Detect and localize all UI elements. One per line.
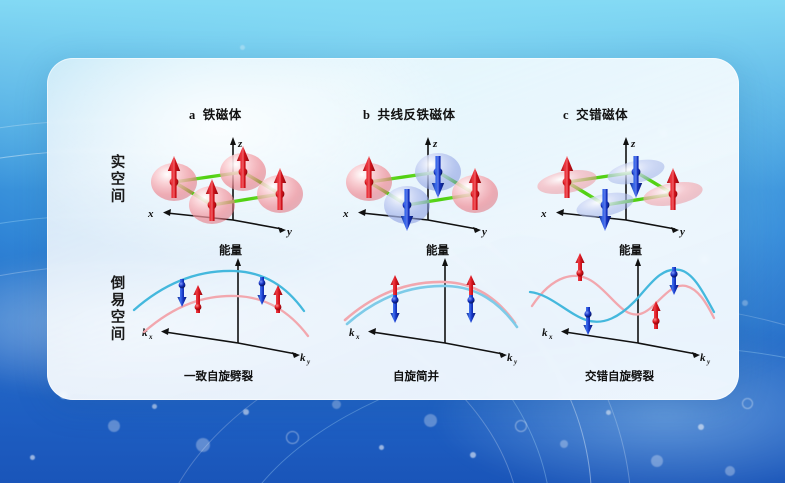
lattice-site (536, 156, 599, 198)
axis-label-kx-sub: x (148, 333, 153, 341)
panel-letter-a: a (189, 108, 196, 122)
lattice-site (346, 156, 392, 201)
axis-ky (445, 343, 503, 354)
axis-kx-arrow (368, 328, 376, 335)
bokeh-particle (725, 466, 735, 476)
axis-kx (372, 332, 445, 343)
band-curve-spin-up (345, 282, 515, 323)
axis-label-ky: k (700, 352, 706, 364)
axis-energy-arrow (442, 258, 448, 266)
bokeh-particle (30, 455, 35, 460)
bokeh-particle (560, 440, 568, 448)
axis-energy-arrow (635, 258, 641, 266)
axis-ky (638, 343, 696, 354)
axis-label-kx: k (349, 327, 355, 339)
bokeh-particle (240, 45, 245, 50)
bokeh-particle (286, 431, 299, 444)
axis-label-y: y (678, 226, 685, 238)
row-label-char: 易 (108, 293, 128, 310)
axis-label-kx-sub: x (355, 333, 360, 341)
axis-label-ky-sub: y (306, 358, 311, 366)
row-label-real-space: 实 空 间 (108, 155, 128, 206)
axis-y (626, 220, 675, 229)
axis-y-arrow (473, 227, 481, 233)
caption-a: 一致自旋劈裂 (184, 368, 253, 384)
bokeh-particle (651, 455, 663, 467)
axis-label-ky-sub: y (513, 358, 518, 366)
axis-label-kx-sub: x (548, 333, 553, 341)
row-label-char: 间 (108, 327, 128, 344)
spin-marker-pair (466, 275, 475, 323)
axis-label-energy: 能量 (619, 243, 642, 257)
bokeh-particle (698, 424, 704, 430)
axis-label-x: x (147, 208, 154, 220)
axis-label-x: x (342, 208, 349, 220)
axis-x-arrow (358, 209, 366, 216)
axis-y (233, 220, 282, 229)
axis-z-arrow (425, 137, 431, 145)
row-label-char: 空 (108, 172, 128, 189)
lattice-site (220, 146, 266, 191)
axis-label-y: y (480, 226, 487, 238)
bokeh-particle (152, 404, 157, 409)
panel-title-text-b: 共线反铁磁体 (377, 108, 455, 122)
bokeh-particle (379, 445, 384, 450)
axis-kx-arrow (561, 328, 569, 335)
axis-z-arrow (623, 137, 629, 145)
axis-energy-arrow (235, 258, 241, 266)
panel-title-text-c: 交错磁体 (576, 108, 628, 122)
axis-x-arrow (556, 209, 564, 216)
reciprocal-space-scene-c: 能量 k x k y (528, 240, 733, 365)
band-curve-spin-down (530, 270, 714, 322)
panel-letter-b: b (363, 108, 370, 122)
panel-title-b: b共线反铁磁体 (363, 104, 455, 123)
bokeh-particle (515, 420, 527, 432)
real-space-scene-c: z x y (523, 125, 718, 235)
bokeh-particle (470, 452, 476, 458)
axis-label-y: y (285, 226, 292, 238)
bokeh-particle (108, 420, 120, 432)
figure-canvas: 实 空 间 倒 易 空 间 a铁磁体 b共线反铁磁体 c交错磁体 z x y (0, 0, 785, 483)
axis-label-energy: 能量 (426, 243, 449, 257)
spin-marker-pair (257, 277, 282, 313)
reciprocal-space-scene-b: 能量 k x k y (335, 240, 535, 365)
axis-kx-arrow (161, 328, 169, 335)
axis-label-z: z (630, 138, 636, 150)
row-label-char: 间 (108, 189, 128, 206)
axis-y-arrow (671, 227, 679, 233)
panel-title-a: a铁磁体 (189, 104, 242, 123)
row-label-char: 空 (108, 310, 128, 327)
band-curve-spin-down (347, 286, 517, 327)
axis-label-ky-sub: y (706, 358, 711, 366)
axis-ky-arrow (692, 352, 700, 358)
axis-label-kx: k (542, 327, 548, 339)
bokeh-particle (196, 438, 210, 452)
axis-label-z: z (432, 138, 438, 150)
bokeh-particle (742, 398, 753, 409)
axis-x-arrow (163, 209, 171, 216)
axis-ky-arrow (292, 352, 300, 358)
bokeh-particle (742, 300, 748, 306)
axis-label-energy: 能量 (219, 243, 242, 257)
row-label-char: 倒 (108, 276, 128, 293)
spin-marker-pair (390, 275, 399, 323)
reciprocal-space-scene-a: 能量 k x k y (128, 240, 328, 365)
panel-title-text-a: 铁磁体 (203, 108, 242, 122)
bokeh-particle (606, 410, 611, 415)
axis-ky (238, 343, 296, 354)
axis-y-arrow (278, 227, 286, 233)
axis-kx (565, 332, 638, 343)
axis-ky-arrow (499, 352, 507, 358)
row-label-char: 实 (108, 155, 128, 172)
real-space-scene-a: z x y (130, 125, 320, 235)
lattice-site (384, 186, 430, 231)
bokeh-particle (243, 409, 249, 415)
caption-b: 自旋简并 (393, 368, 439, 384)
axis-label-ky: k (507, 352, 513, 364)
row-label-reciprocal-space: 倒 易 空 间 (108, 276, 128, 344)
axis-kx (165, 332, 238, 343)
axis-label-ky: k (300, 352, 306, 364)
axis-y (428, 220, 477, 229)
caption-c: 交错自旋劈裂 (585, 368, 654, 384)
lattice-site (151, 156, 197, 201)
axis-label-x: x (540, 208, 547, 220)
bokeh-particle (424, 414, 437, 427)
panel-title-c: c交错磁体 (563, 104, 628, 123)
axis-z-arrow (230, 137, 236, 145)
bokeh-particle (332, 400, 341, 409)
real-space-scene-b: z x y (325, 125, 515, 235)
panel-letter-c: c (563, 108, 569, 122)
